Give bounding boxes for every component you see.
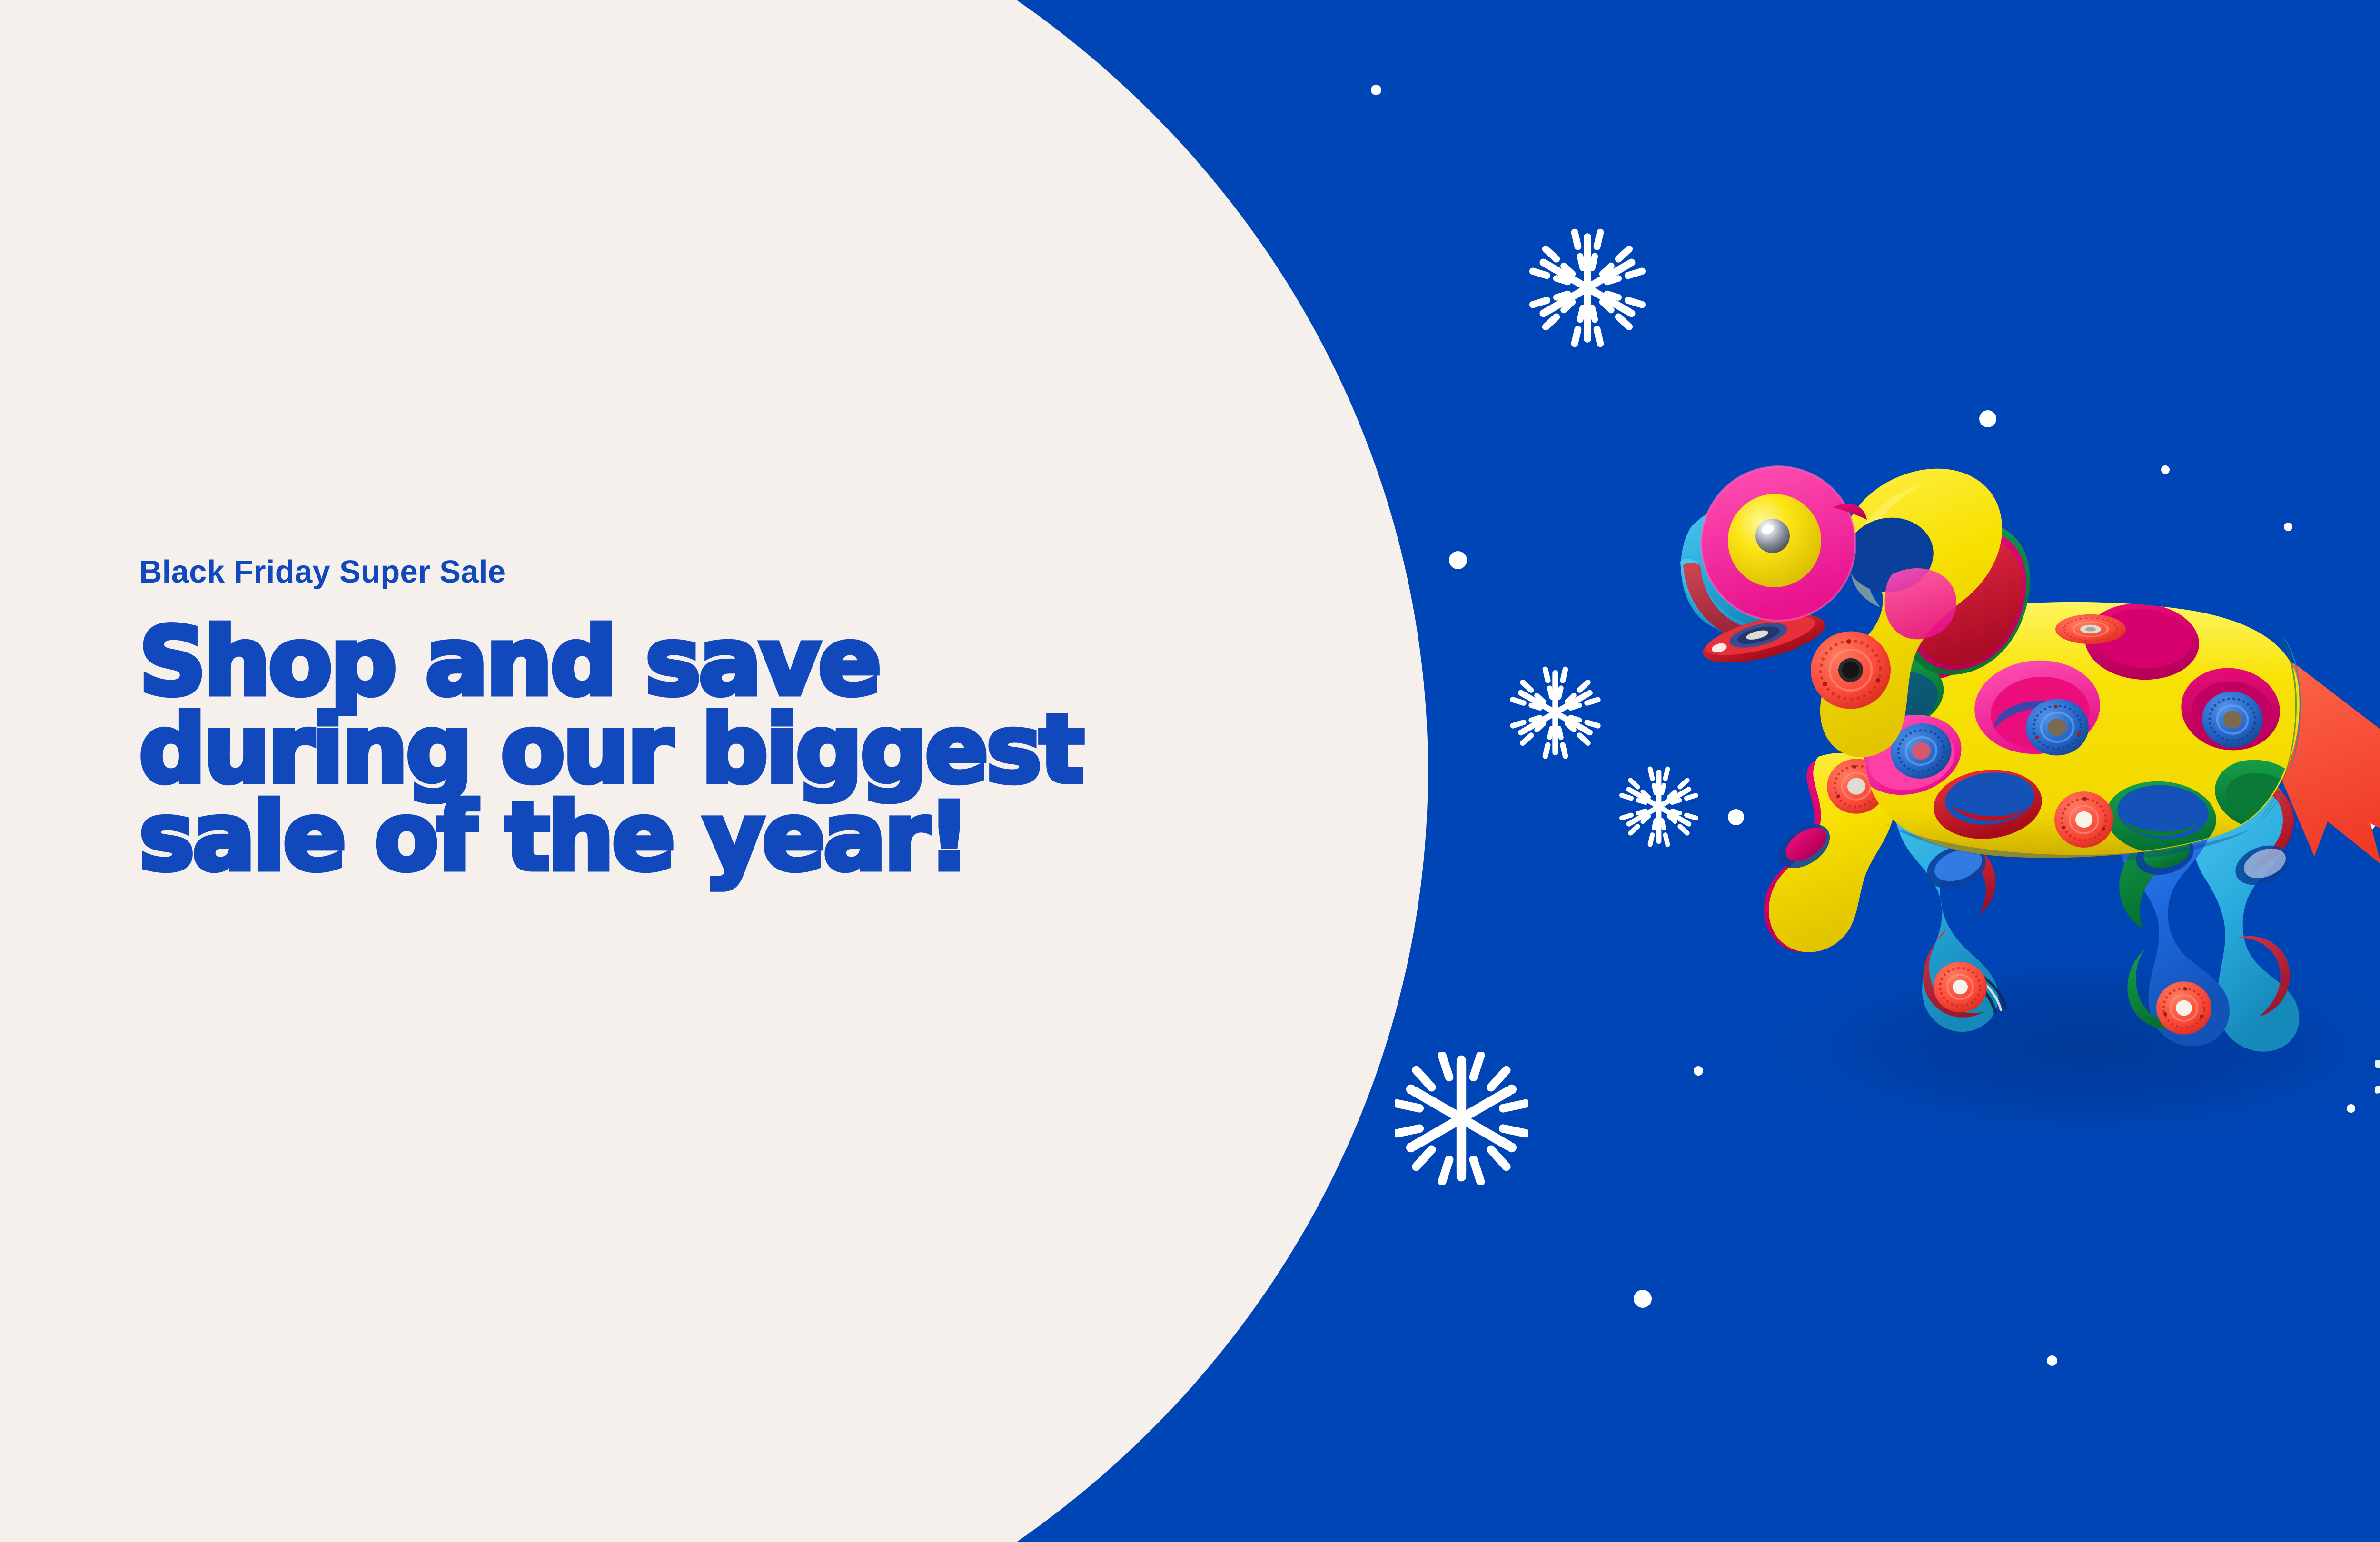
snow-dot bbox=[1634, 1290, 1652, 1308]
promo-copy-block: Black Friday Super Sale Shop and save du… bbox=[139, 554, 1162, 881]
eyebrow-text: Black Friday Super Sale bbox=[139, 554, 1162, 590]
headline-line-3: sale of the year! bbox=[139, 793, 1162, 881]
snow-dot bbox=[2047, 1355, 2057, 1366]
toy-horse-illustration bbox=[1661, 443, 2380, 1185]
snow-dot bbox=[1979, 410, 1996, 427]
headline-line-2: during our biggest bbox=[139, 706, 1162, 793]
snowflake-icon bbox=[1528, 228, 1647, 347]
snow-dot bbox=[1371, 85, 1381, 95]
headline-line-1: Shop and save bbox=[139, 618, 1162, 706]
snowflake-icon bbox=[1509, 666, 1602, 759]
snow-dot bbox=[1449, 551, 1467, 569]
page-title: Shop and save during our biggest sale of… bbox=[139, 618, 1162, 881]
connector-disc-coral-withers bbox=[2055, 614, 2126, 644]
snowflake-icon bbox=[1395, 1052, 1528, 1185]
chrome-ball-eye bbox=[1755, 519, 1790, 553]
hero-banner: Black Friday Super Sale Shop and save du… bbox=[0, 0, 2380, 1542]
